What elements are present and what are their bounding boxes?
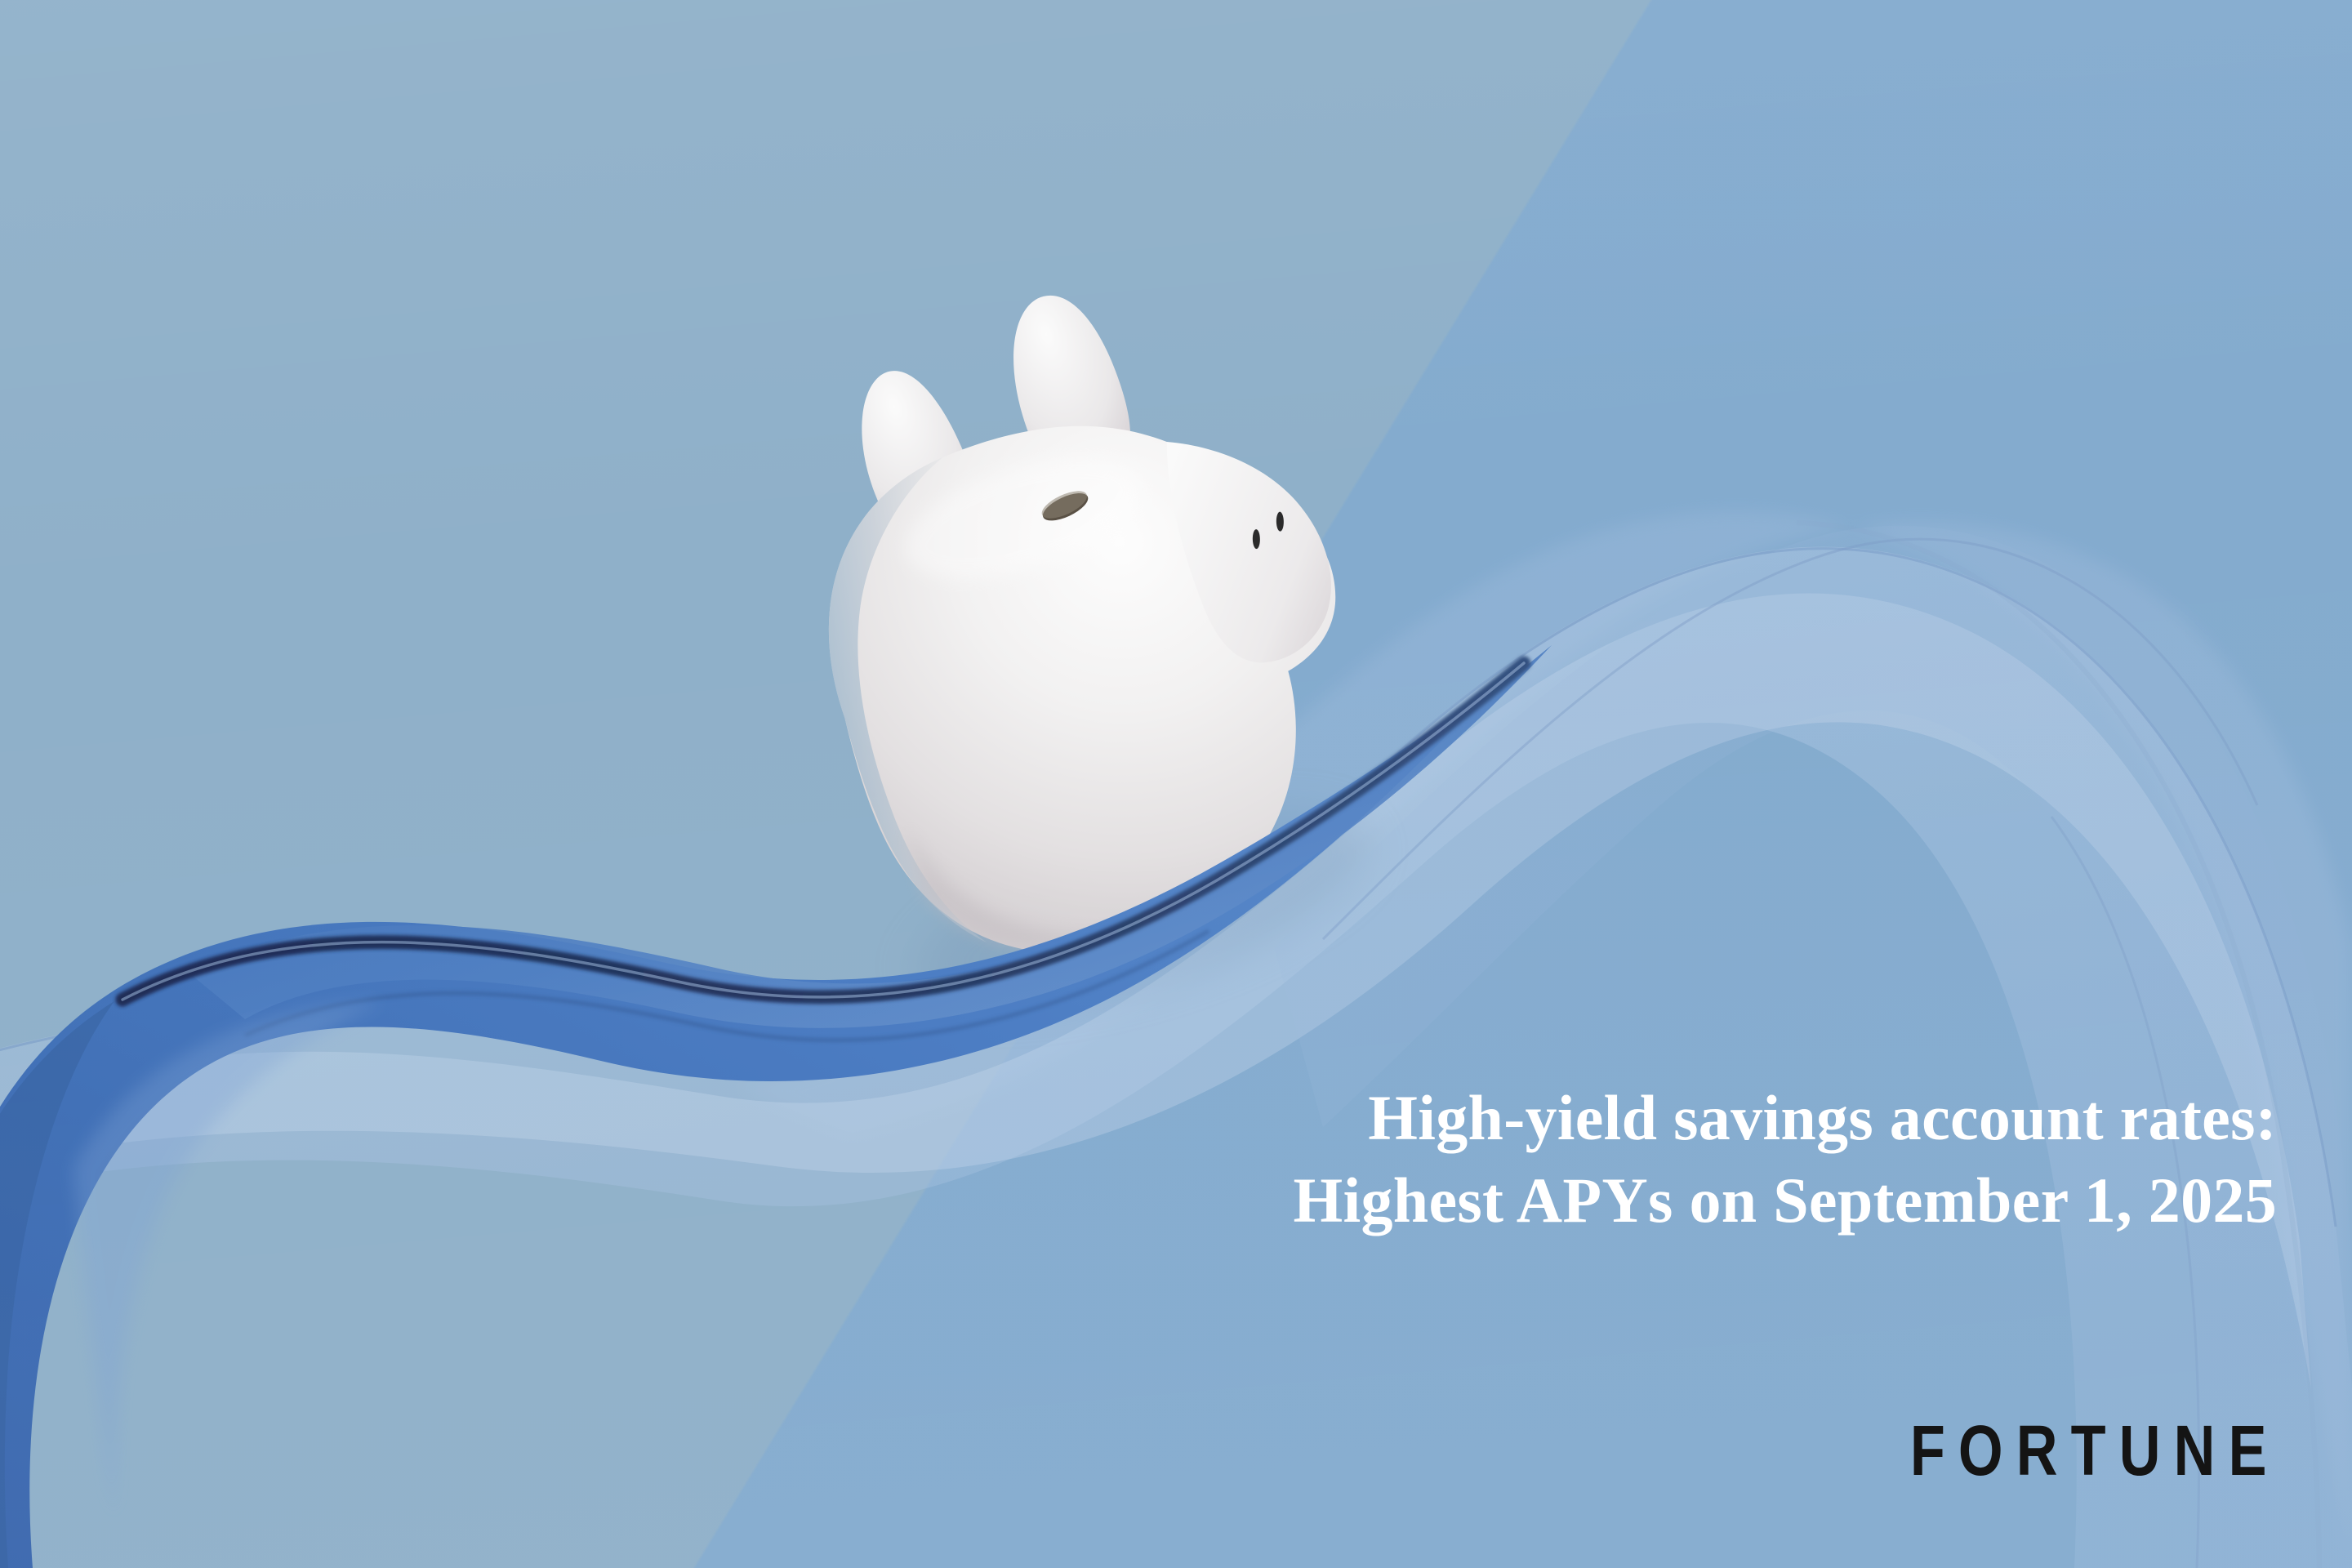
fortune-logo: FORTUNE [1910, 1415, 2280, 1486]
background-sheen [0, 0, 2352, 1568]
headline-line-2: Highest APYs on September 1, 2025 [0, 1159, 2277, 1241]
hero-image: High-yield savings account rates: Highes… [0, 0, 2352, 1568]
page-title: High-yield savings account rates: Highes… [0, 1076, 2352, 1242]
headline-line-1: High-yield savings account rates: [0, 1076, 2277, 1159]
